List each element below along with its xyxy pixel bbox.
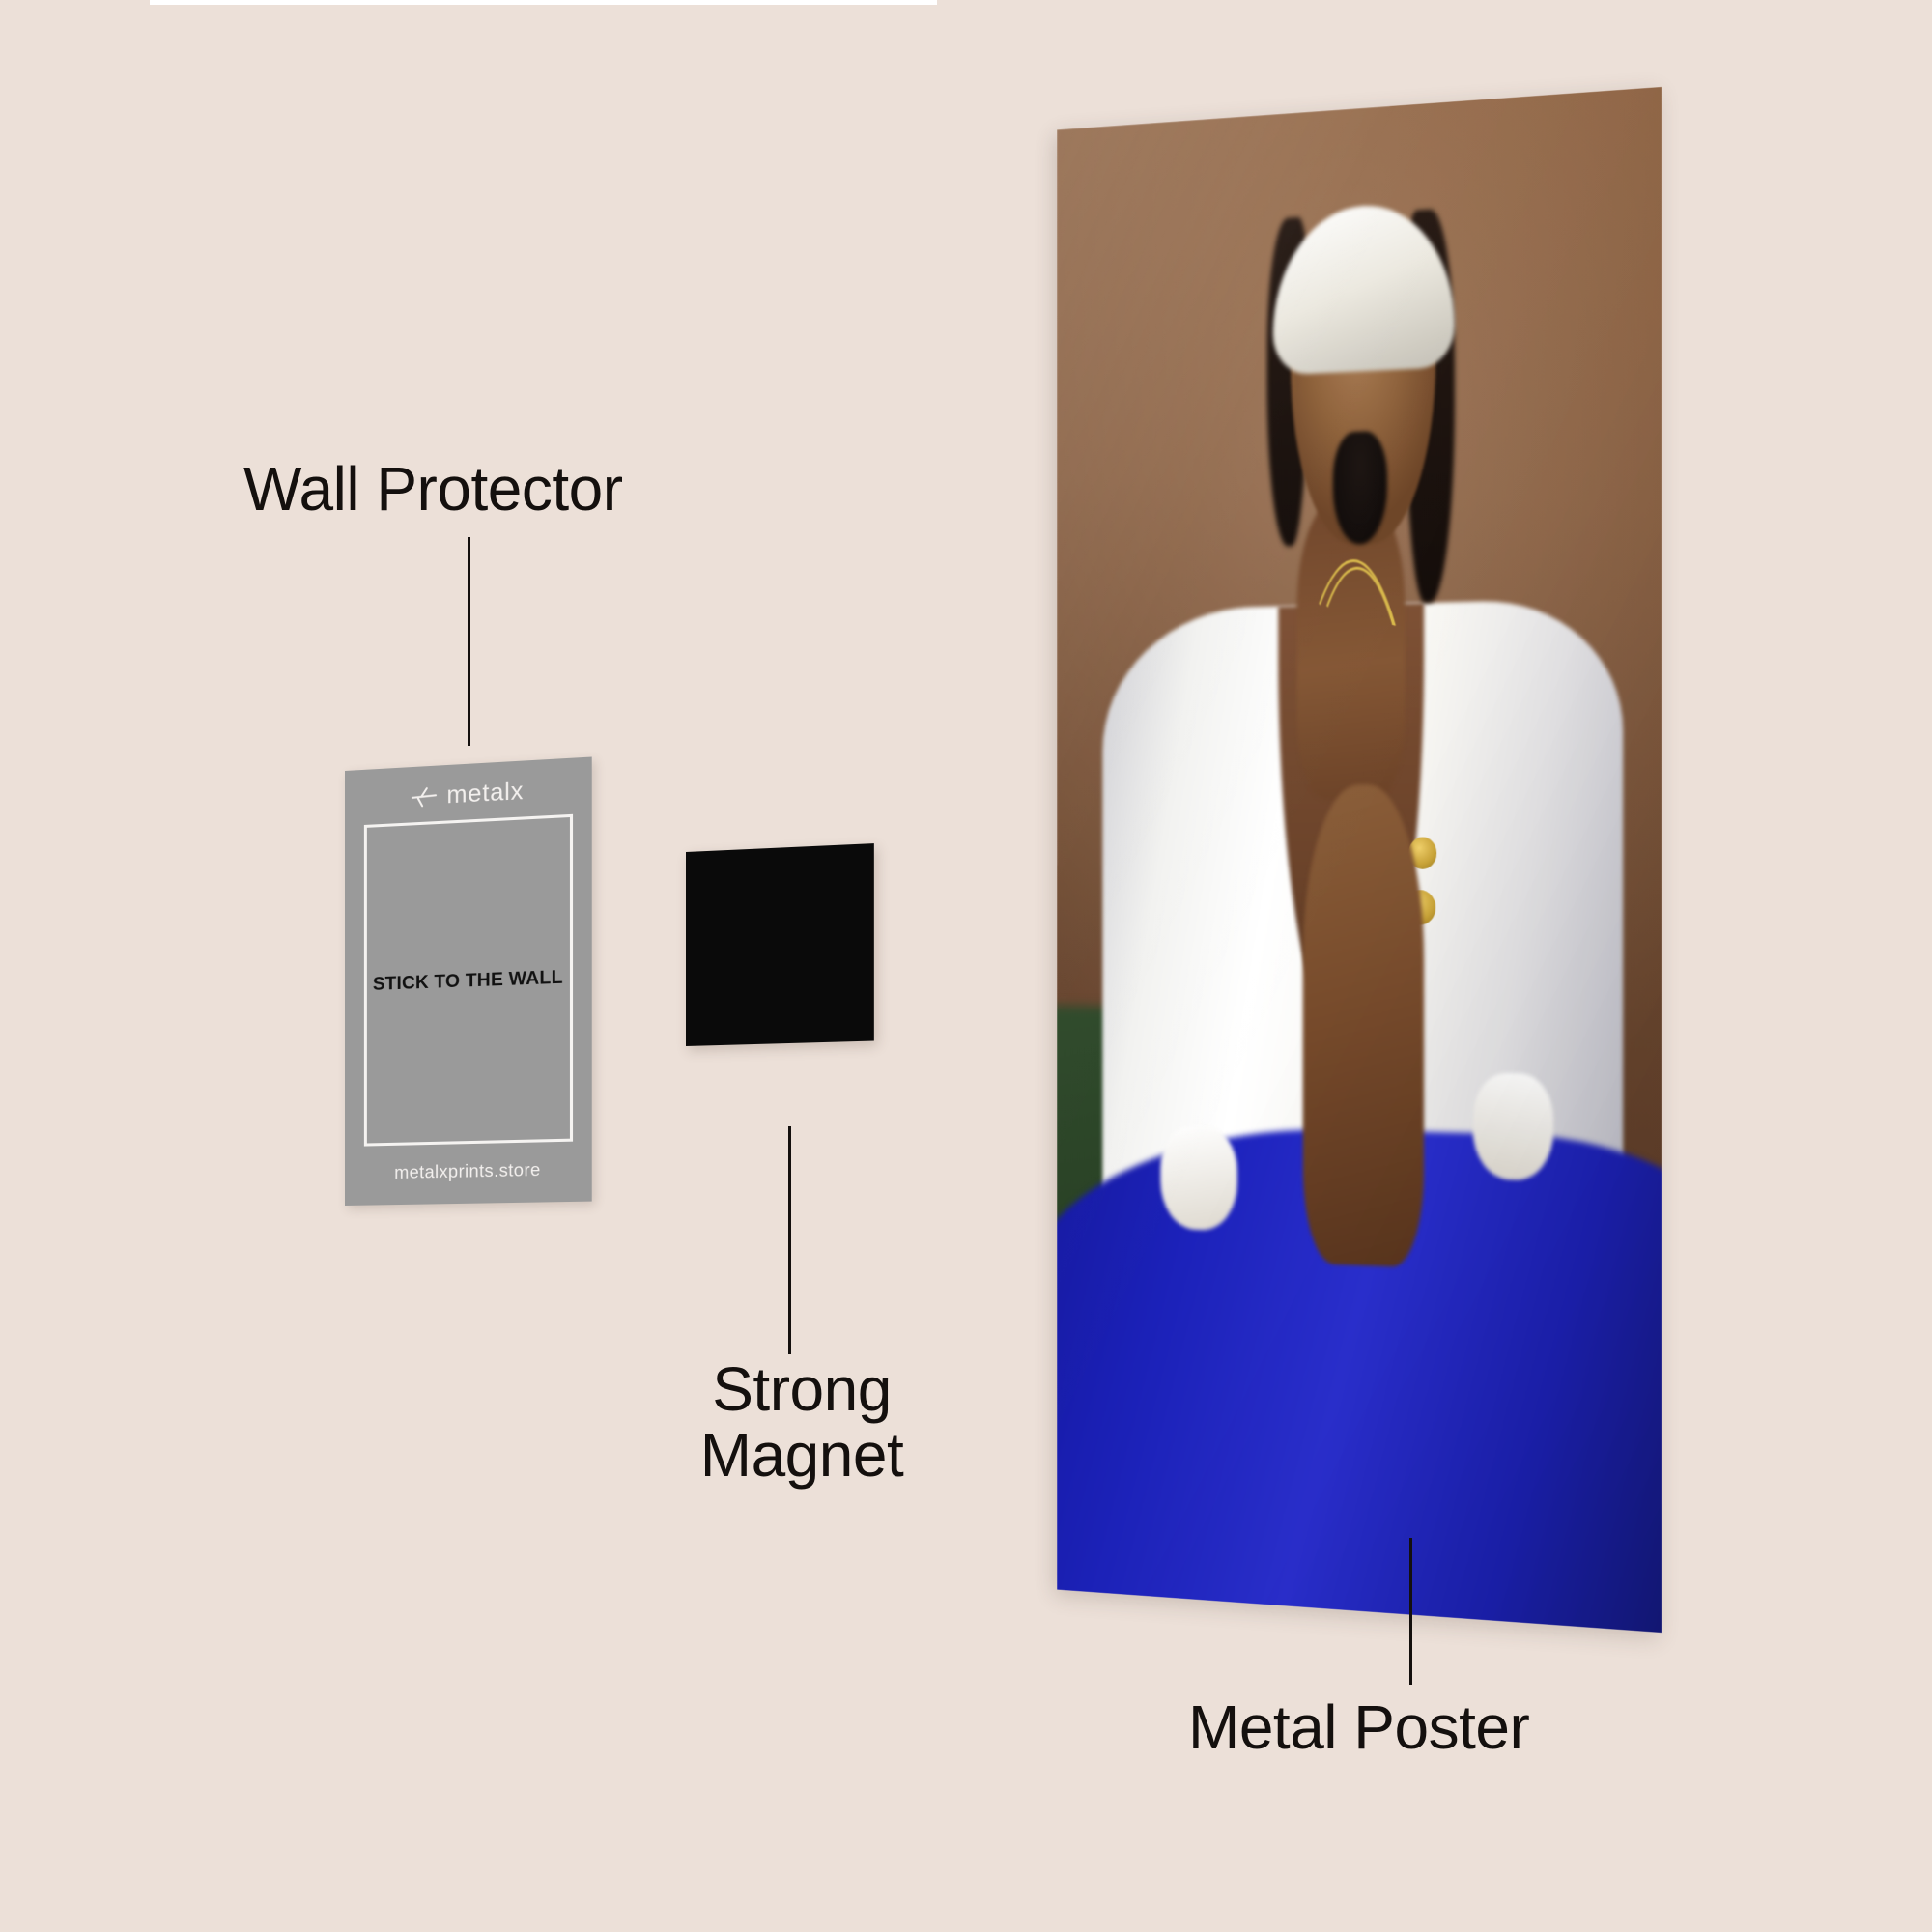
stick-to-the-wall-text: STICK TO THE WALL (373, 967, 563, 996)
artwork-praying-hands (1302, 784, 1423, 1268)
leader-line-strong-magnet (788, 1126, 791, 1354)
infographic-canvas: Wall Protector metalx STICK TO THE WALL … (0, 0, 1932, 1932)
poster-artwork-photo (1057, 87, 1662, 1633)
metal-poster-panel (1057, 87, 1662, 1633)
artwork-goatee (1332, 431, 1386, 546)
callout-label-wall-protector: Wall Protector (243, 457, 623, 523)
brand-name-text: metalx (446, 777, 524, 810)
metalx-cross-logo-icon (411, 785, 438, 809)
artwork-right-cuff (1473, 1072, 1554, 1181)
artwork-left-cuff (1161, 1125, 1237, 1232)
wall-protector-inner-frame: STICK TO THE WALL (363, 814, 572, 1147)
wall-protector-card: metalx STICK TO THE WALL metalxprints.st… (345, 757, 592, 1206)
leader-line-wall-protector (468, 537, 470, 746)
top-edge-strip (150, 0, 937, 5)
wall-protector-brand-row: metalx (411, 775, 524, 814)
leader-line-metal-poster (1409, 1538, 1412, 1685)
callout-label-metal-poster: Metal Poster (1188, 1695, 1529, 1761)
store-url-text: metalxprints.store (394, 1160, 540, 1183)
strong-magnet-square (686, 843, 874, 1046)
callout-label-strong-magnet: Strong Magnet (676, 1357, 927, 1489)
